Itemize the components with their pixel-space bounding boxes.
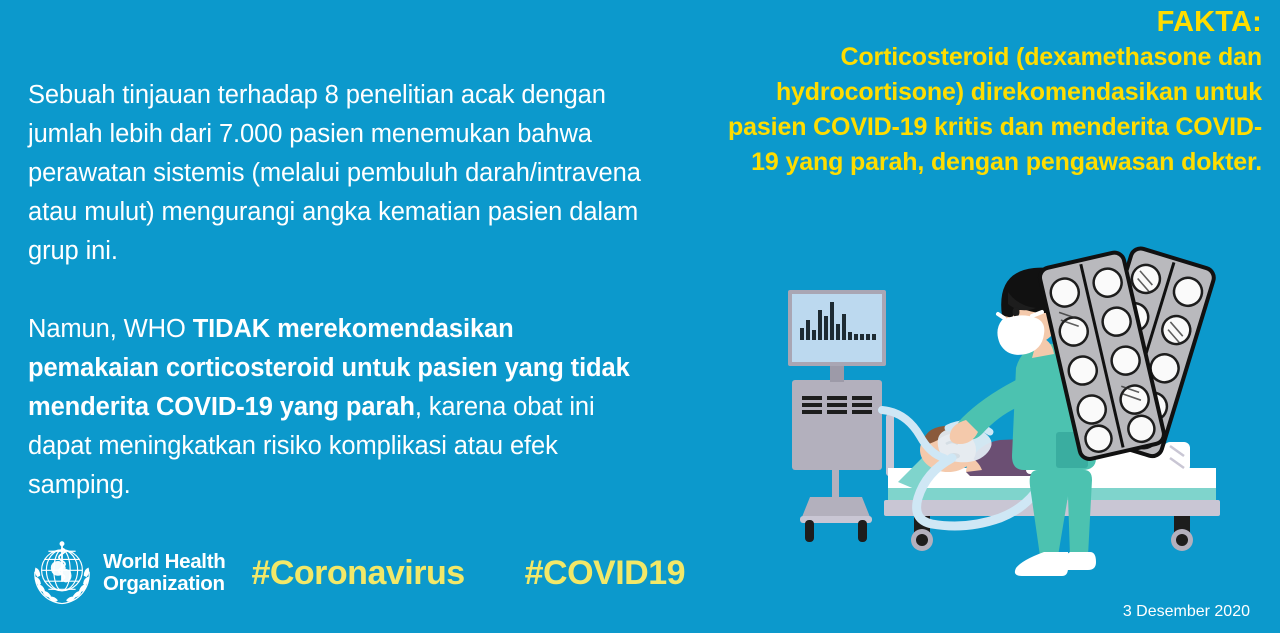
date-stamp: 3 Desember 2020: [1123, 603, 1250, 621]
infographic-card: Sebuah tinjauan terhadap 8 penelitian ac…: [0, 0, 1280, 633]
headline-block: FAKTA: Corticosteroid (dexamethasone dan…: [722, 4, 1262, 180]
body-paragraph-1: Sebuah tinjauan terhadap 8 penelitian ac…: [28, 76, 648, 271]
who-wordmark: World Health Organization: [103, 551, 225, 595]
who-logo: World Health Organization: [28, 539, 225, 607]
fakta-label: FAKTA:: [722, 4, 1262, 40]
vital-signs-monitor-icon: [788, 290, 886, 542]
headline-text: Corticosteroid (dexamethasone dan hydroc…: [722, 40, 1262, 180]
who-wordmark-line-2: Organization: [103, 573, 225, 595]
who-wordmark-line-1: World Health: [103, 551, 225, 573]
paragraph-2-lead: Namun, WHO: [28, 315, 193, 343]
hashtag-coronavirus[interactable]: #Coronavirus: [251, 554, 464, 593]
body-paragraph-2: Namun, WHO TIDAK merekomendasikan pemaka…: [28, 310, 648, 505]
who-emblem-icon: [28, 539, 96, 607]
hashtag-covid19[interactable]: #COVID19: [525, 554, 685, 593]
body-text-block: Sebuah tinjauan terhadap 8 penelitian ac…: [28, 76, 648, 505]
footer-bar: World Health Organization #Coronavirus #…: [28, 539, 685, 607]
hospital-patient-ventilator-illustration: [770, 232, 1270, 604]
